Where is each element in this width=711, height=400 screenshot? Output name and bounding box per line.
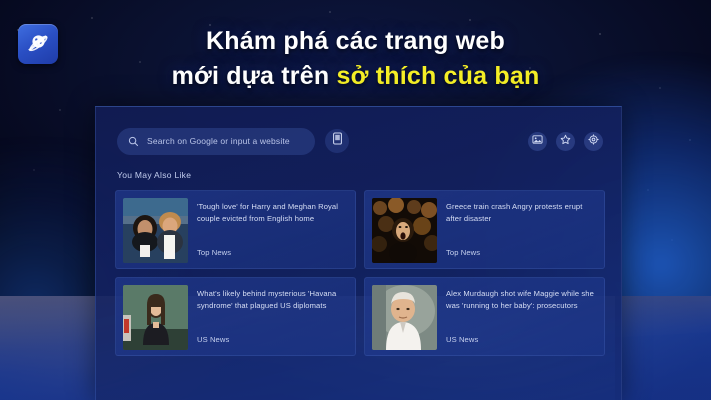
gear-icon bbox=[588, 132, 599, 150]
alex-murdaugh-photo bbox=[372, 285, 437, 350]
mobile-device-icon bbox=[332, 132, 343, 150]
mobile-device-button[interactable] bbox=[325, 129, 349, 153]
settings-button[interactable] bbox=[584, 132, 603, 151]
news-card-body: Greece train crash Angry protests erupt … bbox=[446, 198, 597, 261]
greece-protest-photo bbox=[372, 198, 437, 263]
news-card[interactable]: What's likely behind mysterious 'Havana … bbox=[115, 277, 356, 356]
news-card-body: Alex Murdaugh shot wife Maggie while she… bbox=[446, 285, 597, 348]
wallpaper-button[interactable] bbox=[528, 132, 547, 151]
news-card[interactable]: Alex Murdaugh shot wife Maggie while she… bbox=[364, 277, 605, 356]
news-card-grid: 'Tough love' for Harry and Meghan Royal … bbox=[115, 190, 605, 356]
news-card-tag: Top News bbox=[197, 248, 348, 261]
news-card[interactable]: 'Tough love' for Harry and Meghan Royal … bbox=[115, 190, 356, 269]
news-card-body: 'Tough love' for Harry and Meghan Royal … bbox=[197, 198, 348, 261]
news-card-tag: US News bbox=[446, 335, 597, 348]
news-card-tag: Top News bbox=[446, 248, 597, 261]
harry-meghan-photo bbox=[123, 198, 188, 263]
news-card-title: What's likely behind mysterious 'Havana … bbox=[197, 288, 348, 311]
search-row: Search on Google or input a website bbox=[117, 127, 603, 155]
bookmarks-button[interactable] bbox=[556, 132, 575, 151]
search-icon bbox=[128, 136, 139, 147]
news-card-tag: US News bbox=[197, 335, 348, 348]
screen-root: Khám phá các trang web mới dựa trên sở t… bbox=[0, 0, 711, 400]
news-card-title: Alex Murdaugh shot wife Maggie while she… bbox=[446, 288, 597, 311]
wallpaper-column-left bbox=[0, 296, 96, 400]
wallpaper-icon bbox=[532, 132, 543, 150]
news-card-title: 'Tough love' for Harry and Meghan Royal … bbox=[197, 201, 348, 224]
wallpaper-column-right bbox=[615, 296, 711, 400]
page-title: Khám phá các trang web mới dựa trên sở t… bbox=[0, 24, 711, 93]
news-card-body: What's likely behind mysterious 'Havana … bbox=[197, 285, 348, 348]
section-label: You May Also Like bbox=[117, 170, 191, 180]
search-input[interactable]: Search on Google or input a website bbox=[117, 128, 315, 155]
news-card[interactable]: Greece train crash Angry protests erupt … bbox=[364, 190, 605, 269]
headline-line-2: mới dựa trên sở thích của bạn bbox=[0, 59, 711, 94]
headline-accent: sở thích của bạn bbox=[336, 62, 539, 90]
search-placeholder-text: Search on Google or input a website bbox=[147, 136, 290, 146]
headline-line-1: Khám phá các trang web bbox=[0, 24, 711, 59]
spokeswoman-podium-photo bbox=[123, 285, 188, 350]
headline-line-2-prefix: mới dựa trên bbox=[172, 62, 337, 90]
news-card-title: Greece train crash Angry protests erupt … bbox=[446, 201, 597, 224]
panel-actions bbox=[528, 132, 603, 151]
browser-home-panel: Search on Google or input a website bbox=[95, 106, 622, 400]
star-icon bbox=[560, 132, 571, 150]
